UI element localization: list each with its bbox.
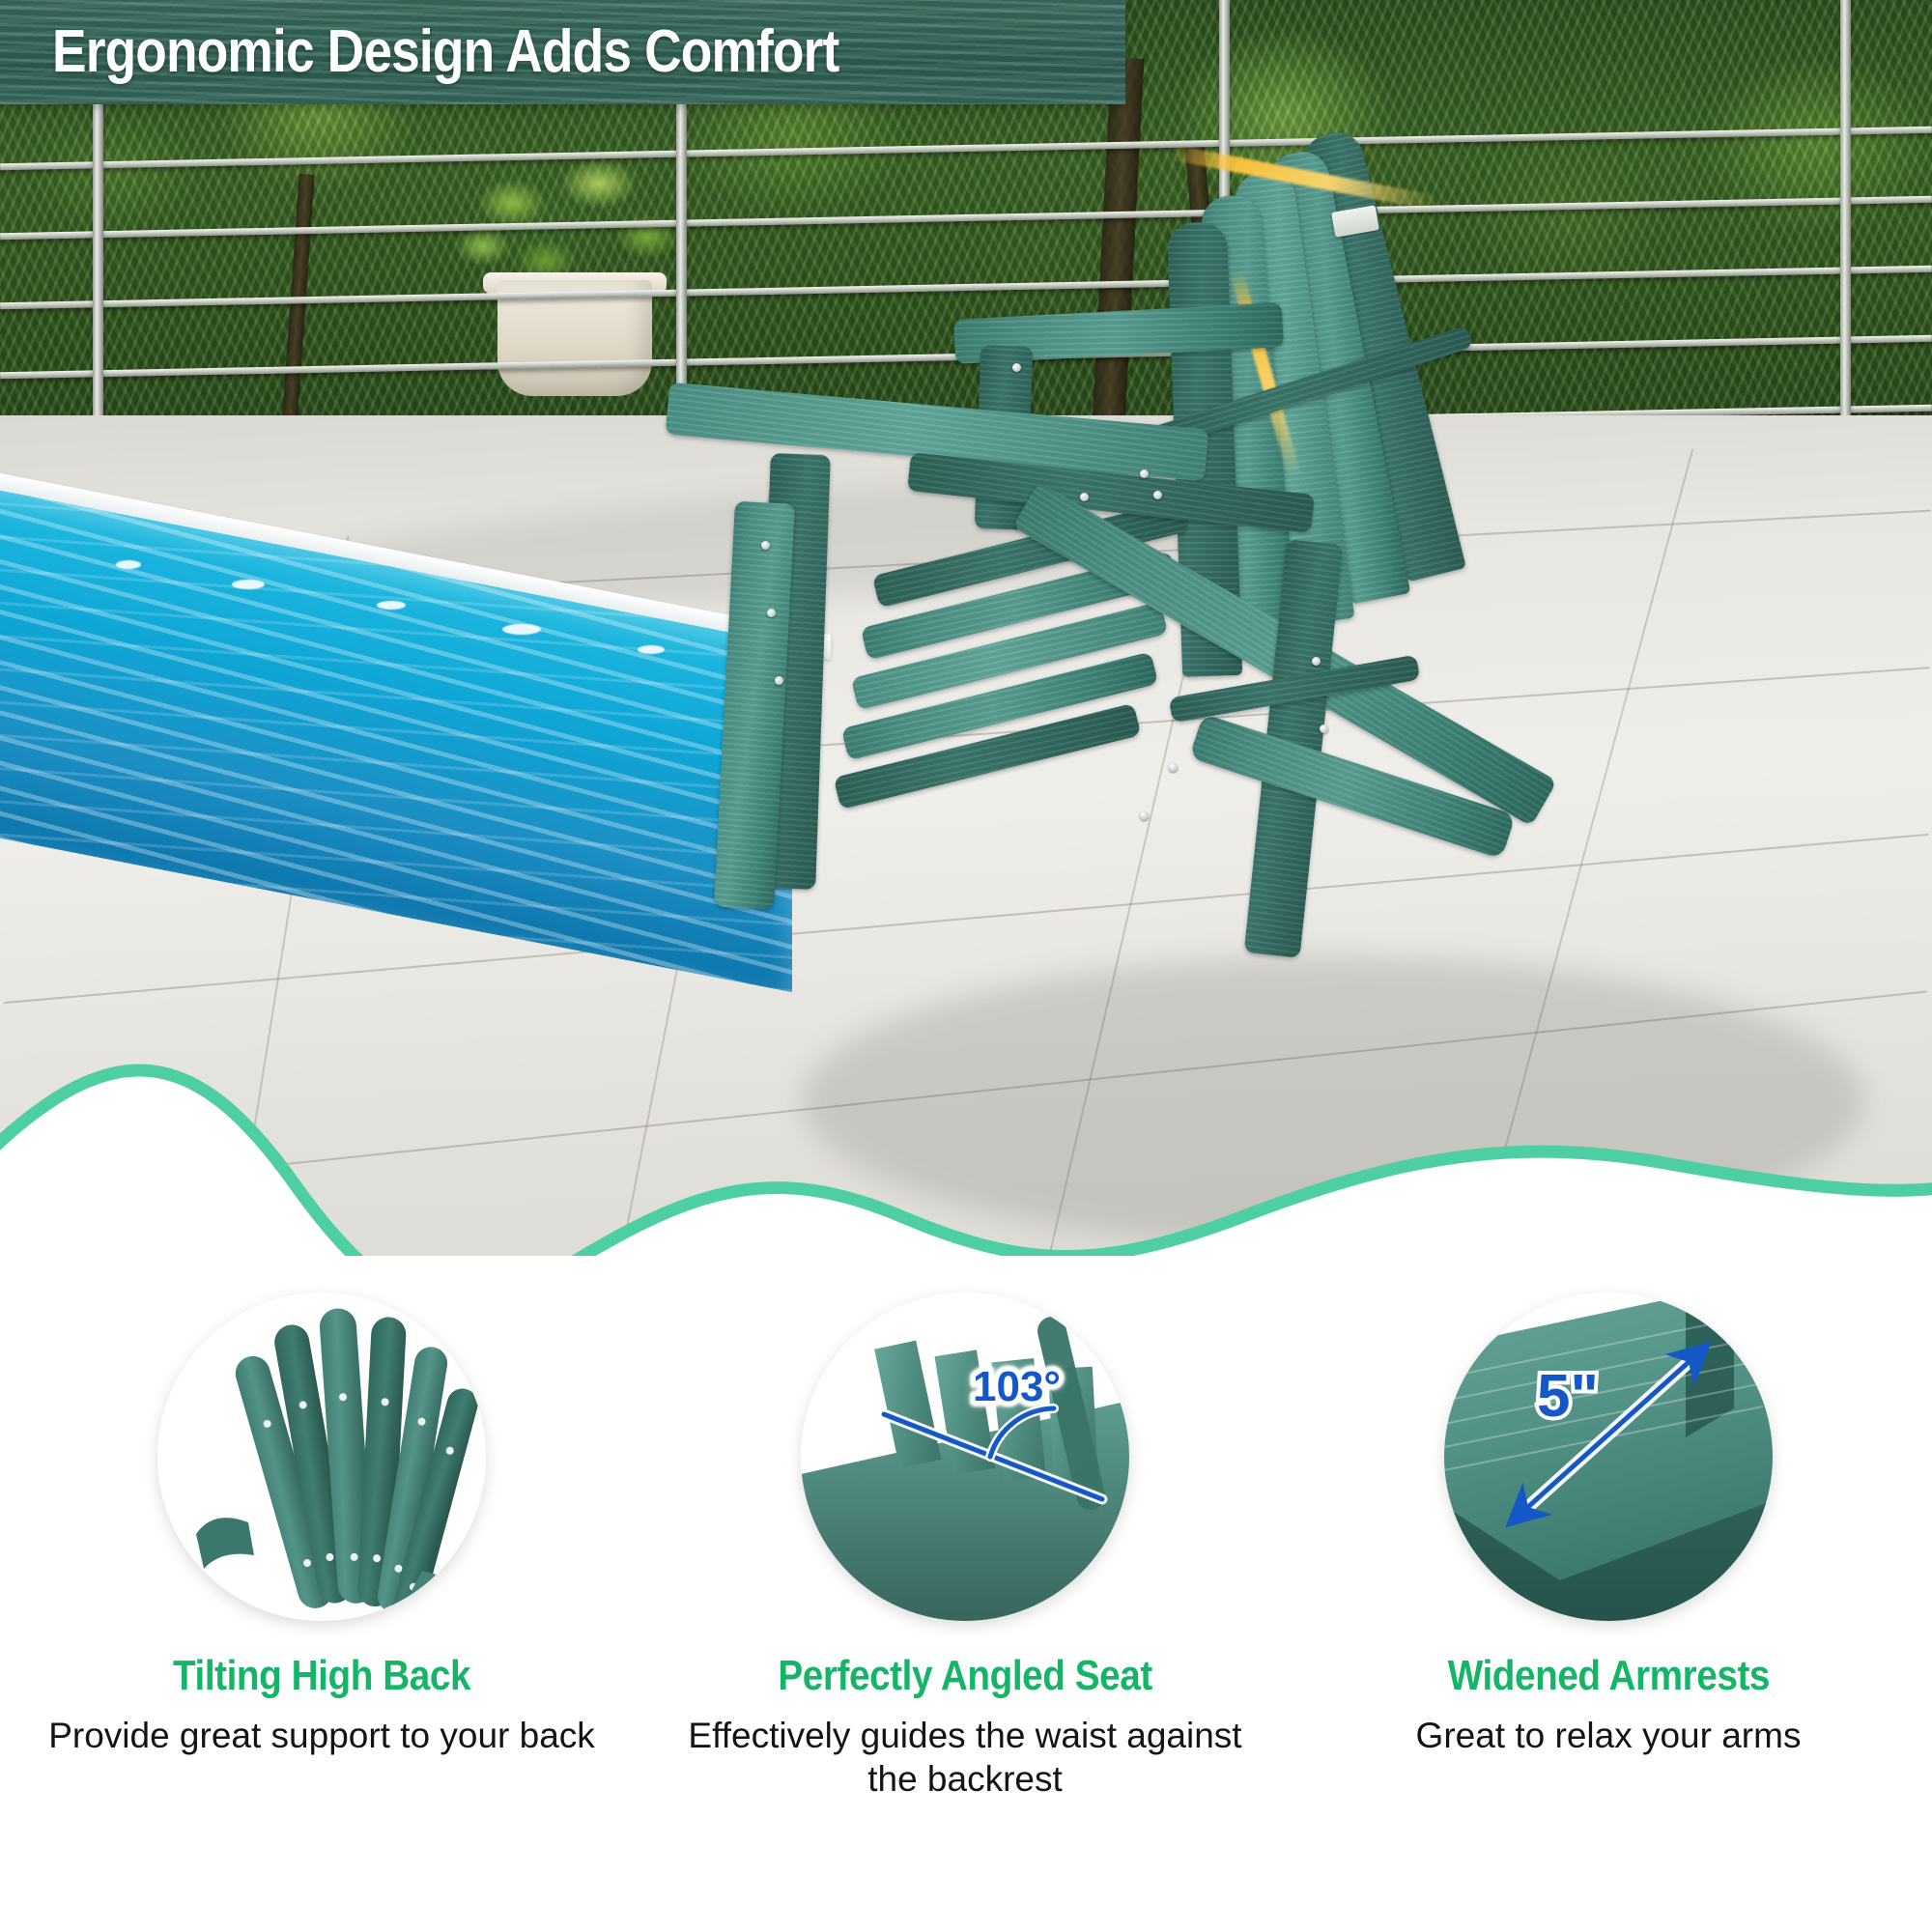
screw: [1153, 491, 1162, 499]
water-sparkle: [232, 580, 265, 589]
screw: [1169, 763, 1178, 772]
seat-angle-illustration: 103°: [801, 1293, 1129, 1621]
screw: [767, 609, 776, 617]
feature-title: Widened Armrests: [1447, 1654, 1769, 1698]
screw: [1080, 493, 1089, 501]
armrest-width-illustration: 5": [1444, 1293, 1773, 1621]
screw: [761, 541, 770, 550]
hero-banner: Ergonomic Design Adds Comfort: [0, 0, 1125, 104]
feature-image-perfectly-angled-seat: 103°: [801, 1293, 1129, 1621]
water-sparkle: [116, 560, 141, 569]
water-sparkle: [638, 645, 665, 654]
feature-annotation: 5": [1537, 1363, 1599, 1430]
hero-photo: Ergonomic Design Adds Comfort: [0, 0, 1932, 1256]
feature-row: Tilting High Back Provide great support …: [0, 1275, 1932, 1932]
water-sparkle: [502, 624, 541, 635]
feature-image-tilting-high-back: [157, 1293, 486, 1621]
screw: [1140, 811, 1149, 820]
screw: [1312, 657, 1321, 666]
feature-title: Tilting High Back: [173, 1654, 470, 1698]
screw: [1320, 724, 1328, 733]
feature-description: Effectively guides the waist against the…: [675, 1714, 1255, 1801]
page-title: Ergonomic Design Adds Comfort: [52, 22, 838, 82]
screw: [1012, 363, 1021, 372]
product-feature-page: Ergonomic Design Adds Comfort: [0, 0, 1932, 1932]
adirondack-chair: [850, 87, 1932, 1179]
feature-description: Provide great support to your back: [48, 1714, 595, 1757]
feature-widened-armrests: 5" Widened Armrests Great to relax your …: [1287, 1275, 1930, 1932]
feature-title: Perfectly Angled Seat: [778, 1654, 1151, 1698]
feature-tilting-high-back: Tilting High Back Provide great support …: [0, 1275, 643, 1932]
feature-description: Great to relax your arms: [1416, 1714, 1802, 1757]
water-sparkle: [377, 601, 406, 610]
screw: [1140, 469, 1149, 478]
feature-perfectly-angled-seat: 103° Perfectly Angled Seat Effectively g…: [643, 1275, 1287, 1932]
screw: [775, 676, 783, 685]
feature-image-widened-armrests: 5": [1444, 1293, 1773, 1621]
chair-back-illustration: [157, 1293, 486, 1621]
